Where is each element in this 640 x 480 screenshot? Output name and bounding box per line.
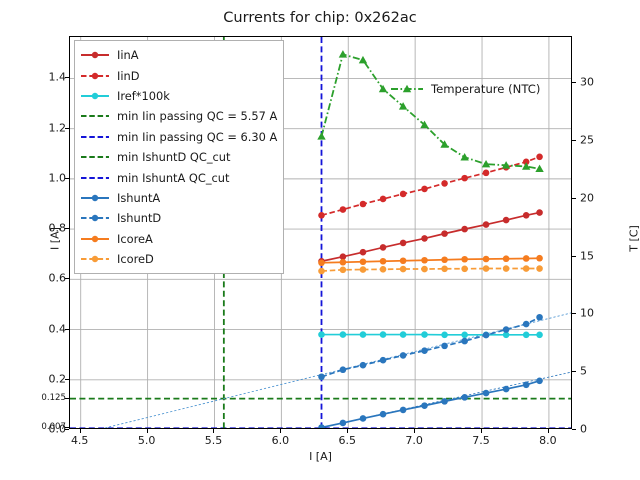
y2-tick-mark xyxy=(572,198,576,199)
temperature-legend: Temperature (NTC) xyxy=(390,82,540,96)
legend-item-iina[interactable]: IinA xyxy=(80,45,277,65)
legend-item-icored[interactable]: IcoreD xyxy=(80,249,277,269)
legend-item-ishuntd[interactable]: IshuntD xyxy=(80,208,277,228)
y-tick-label: 0.007 xyxy=(0,422,66,432)
x-tick-label: 5.0 xyxy=(138,434,156,447)
x-axis-label: I [A] xyxy=(69,450,572,463)
y-tick-mark xyxy=(65,77,69,78)
y2-tick-mark xyxy=(572,140,576,141)
y2-tick-label: 10 xyxy=(580,307,594,320)
y-tick-mark xyxy=(65,379,69,380)
legend-item-min-ishunta-qc-cut[interactable]: min IshuntA QC_cut xyxy=(80,167,277,187)
series-ishuntd xyxy=(318,314,543,380)
series-temperature-ntc- xyxy=(317,50,543,172)
x-tick-label: 7.5 xyxy=(472,434,490,447)
y2-tick-label: 20 xyxy=(580,191,594,204)
y-tick-mark xyxy=(65,178,69,179)
legend-label: IcoreA xyxy=(117,232,153,246)
x-tick-label: 8.0 xyxy=(539,434,557,447)
temperature-legend-key xyxy=(390,82,424,96)
legend-key-icon xyxy=(80,252,110,266)
legend-key-icon xyxy=(80,171,110,185)
y-tick-label: 1.4 xyxy=(0,71,66,84)
series-ishunta xyxy=(318,377,543,428)
legend-label: IshuntD xyxy=(117,211,161,225)
legend-key-icon xyxy=(80,232,110,246)
x-tick-mark xyxy=(347,429,348,433)
x-tick-mark xyxy=(548,429,549,433)
y2-tick-mark xyxy=(572,371,576,372)
y2-tick-mark xyxy=(572,256,576,257)
series-iina xyxy=(318,209,543,264)
legend-item-min-ishuntd-qc-cut[interactable]: min IshuntD QC_cut xyxy=(80,147,277,167)
legend-item-min-iin-passing-qc-6-30-a[interactable]: min Iin passing QC = 6.30 A xyxy=(80,127,277,147)
series-icored xyxy=(318,265,543,274)
y2-tick-mark xyxy=(572,429,576,430)
x-tick-mark xyxy=(147,429,148,433)
y2-tick-label: 5 xyxy=(580,365,587,378)
legend-key-icon xyxy=(80,48,110,62)
y-tick-mark xyxy=(65,398,69,399)
legend-label: Iref*100k xyxy=(117,89,170,103)
legend-key-icon xyxy=(80,130,110,144)
y-tick-mark xyxy=(65,329,69,330)
y-tick-label: 0.2 xyxy=(0,372,66,385)
x-tick-mark xyxy=(213,429,214,433)
series-iind xyxy=(318,153,543,218)
legend-item-min-iin-passing-qc-5-57-a[interactable]: min Iin passing QC = 5.57 A xyxy=(80,106,277,126)
y-tick-mark xyxy=(65,427,69,428)
y2-tick-label: 25 xyxy=(580,134,594,147)
series-iref-100k xyxy=(318,331,543,338)
legend-label: IshuntA xyxy=(117,191,160,205)
x-tick-label: 4.5 xyxy=(71,434,89,447)
legend-key-icon xyxy=(80,89,110,103)
y-tick-label: 0.125 xyxy=(0,393,66,403)
y-tick-mark xyxy=(65,228,69,229)
legend-label: min Iin passing QC = 6.30 A xyxy=(117,130,277,144)
y2-tick-label: 0 xyxy=(580,423,587,436)
y2-tick-label: 15 xyxy=(580,249,594,262)
x-tick-mark xyxy=(80,429,81,433)
y-tick-mark xyxy=(65,128,69,129)
legend-item-iref-100k[interactable]: Iref*100k xyxy=(80,86,277,106)
x-tick-label: 5.5 xyxy=(205,434,223,447)
legend-label: IinD xyxy=(117,69,140,83)
y2-tick-mark xyxy=(572,82,576,83)
legend-label: min IshuntA QC_cut xyxy=(117,171,230,185)
y-tick-mark xyxy=(65,278,69,279)
legend-key-icon xyxy=(80,191,110,205)
x-tick-label: 6.5 xyxy=(339,434,357,447)
x-tick-mark xyxy=(280,429,281,433)
series-icorea xyxy=(318,255,543,266)
legend-item-iind[interactable]: IinD xyxy=(80,65,277,85)
legend: IinAIinDIref*100kmin Iin passing QC = 5.… xyxy=(74,40,284,274)
y-tick-label: 1.2 xyxy=(0,121,66,134)
chart-figure: Currents for chip: 0x262ac 0.00.0070.125… xyxy=(0,0,640,480)
legend-key-icon xyxy=(80,211,110,225)
y-tick-label: 0.4 xyxy=(0,322,66,335)
x-tick-label: 6.0 xyxy=(272,434,290,447)
legend-label: min Iin passing QC = 5.57 A xyxy=(117,109,277,123)
legend-label: IcoreD xyxy=(117,252,154,266)
chart-title: Currents for chip: 0x262ac xyxy=(0,10,640,26)
legend-item-icorea[interactable]: IcoreA xyxy=(80,229,277,249)
y2-axis-label: T [C] xyxy=(628,179,640,299)
legend-item-ishunta[interactable]: IshuntA xyxy=(80,188,277,208)
y2-tick-label: 30 xyxy=(580,76,594,89)
legend-label: IinA xyxy=(117,48,139,62)
temperature-legend-label: Temperature (NTC) xyxy=(431,82,540,96)
x-tick-mark xyxy=(414,429,415,433)
y-axis-label: I [A] xyxy=(49,179,62,299)
legend-key-icon xyxy=(80,150,110,164)
y2-tick-mark xyxy=(572,313,576,314)
x-tick-label: 7.0 xyxy=(405,434,423,447)
legend-label: min IshuntD QC_cut xyxy=(117,150,230,164)
x-tick-mark xyxy=(481,429,482,433)
legend-key-icon xyxy=(80,109,110,123)
legend-key-icon xyxy=(80,69,110,83)
